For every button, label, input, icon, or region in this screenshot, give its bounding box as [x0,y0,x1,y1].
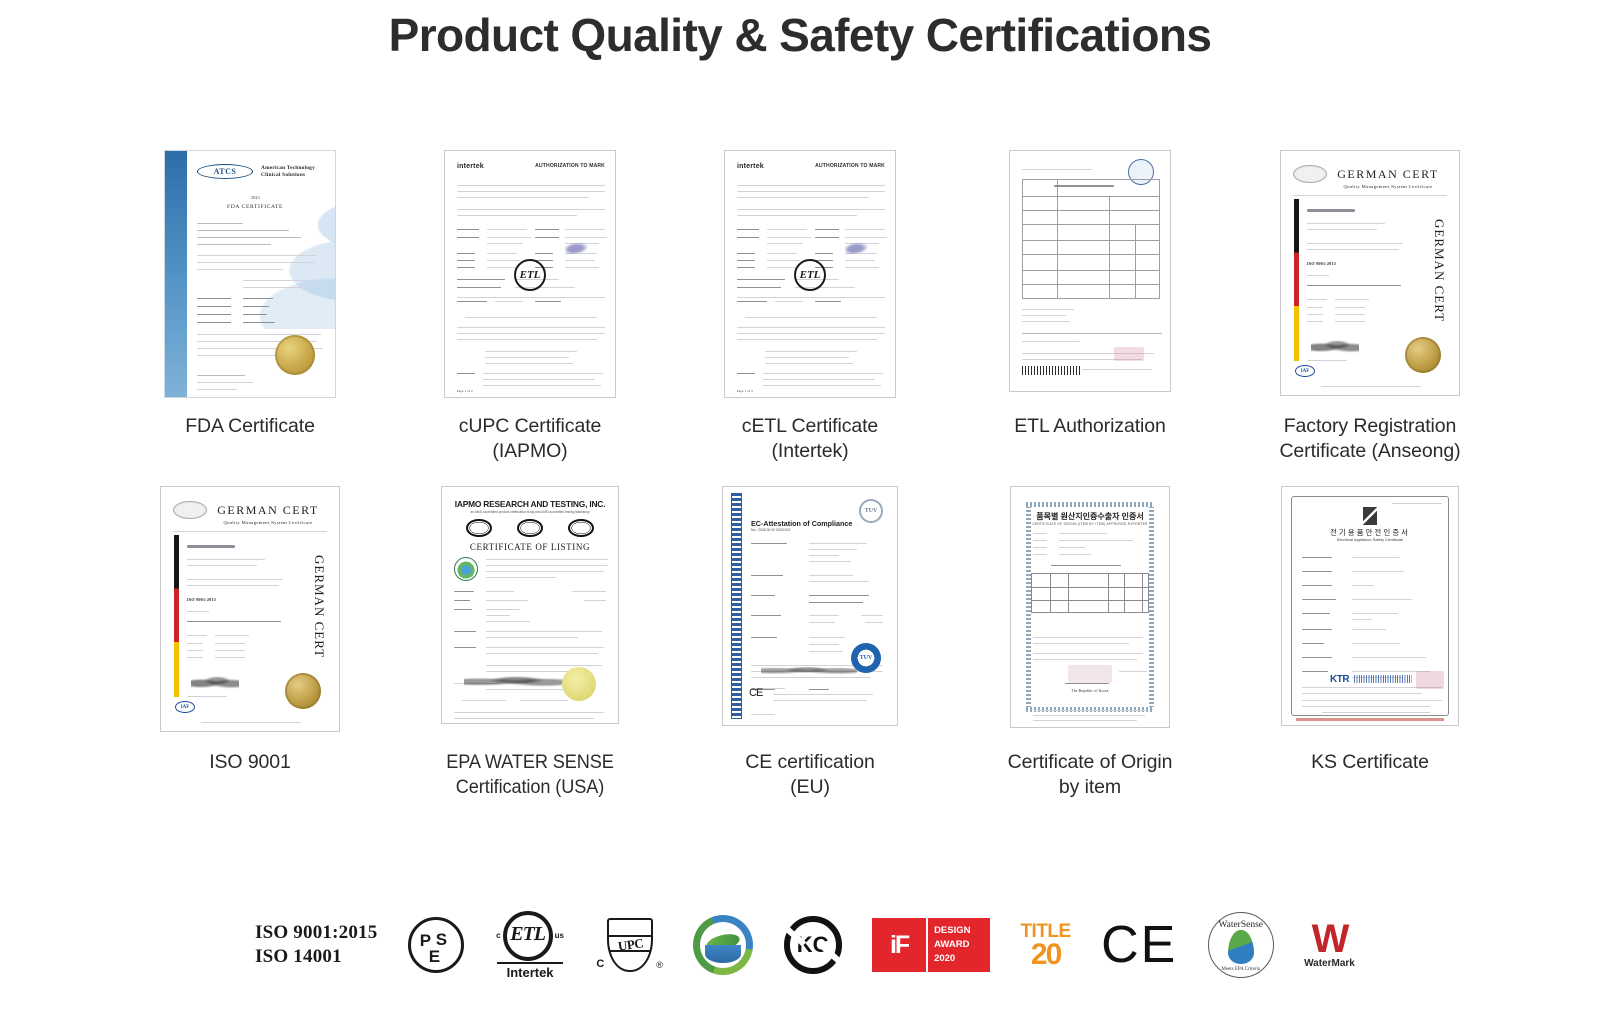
german-cert-document-factory: GERMAN CERT Quality Management System Ce… [1280,150,1460,396]
iapmo-header: IAPMO RESEARCH AND TESTING, INC. [452,499,608,509]
iaf-logo-iso: IAF [175,701,195,713]
iapmo-yellow-seal [562,667,596,701]
intertek-footer-cupc: Page 1 of 2 [457,389,473,393]
page-title: Product Quality & Safety Certifications [0,8,1600,62]
logo-watermark: W WaterMark [1304,922,1355,969]
etl-circle-icon: ETL [503,911,553,961]
german-cert-medal-icon-iso [173,501,207,519]
fda-watermark-swirl [187,199,335,329]
german-cert-signature-factory [1311,339,1359,353]
certificate-thumbnail-ks[interactable]: 전기용품안전인증서 Electrical Appliance Safety Ce… [1280,486,1460,736]
logo-title-20: TITLE 20 [1020,922,1070,969]
cupc-prefix-c: C [596,958,604,970]
german-cert-gold-seal-factory [1405,337,1441,373]
logo-ce-mark: CE [1101,920,1177,970]
fda-gold-seal [275,335,315,375]
iapmo-listing-document: IAPMO RESEARCH AND TESTING, INC. an ANSI… [441,486,619,724]
iapmo-signatures [464,673,574,689]
watersense-mark-icon: WaterSense Meets EPA Criteria [1208,912,1274,978]
ks-red-footer-line [1296,718,1444,721]
fda-doc-title: FDA CERTIFICATE [227,204,283,210]
german-cert-medal-icon [1293,165,1327,183]
title-20-line2: 20 [1031,941,1060,969]
tuv-logo-top-icon: TUV [859,499,883,523]
origin-certificate-document: 품목별 원산지인증수출자 인증서 CERTIFICATE OF ORIGIN (… [1010,486,1170,728]
certificate-card-factory-registration[interactable]: GERMAN CERT Quality Management System Ce… [1230,150,1510,464]
watermark-w-glyph: W [1312,922,1348,956]
ks-certificate-document: 전기용품안전인증서 Electrical Appliance Safety Ce… [1281,486,1459,726]
certificate-caption-cetl: cETL Certificate (Intertek) [680,414,940,464]
origin-doc-title-en: CERTIFICATE OF ORIGIN (ITEM BY ITEM) APP… [1011,522,1169,526]
fda-certificate-document: Certificate FDA Certificate FDA Certific… [164,150,336,398]
watersense-caption: Meets EPA Criteria [1209,967,1273,972]
certificate-caption-fda: FDA Certificate [120,414,380,439]
german-cert-brand-factory: GERMAN CERT [1327,167,1449,182]
intertek-doc-title-cupc: AUTHORIZATION TO MARK [535,163,605,169]
korea-eco-label-icon [693,915,753,975]
fda-year: 2023 [251,195,260,200]
german-flag-bar-factory [1294,199,1299,361]
iapmo-logo-icon-3 [568,519,594,537]
german-cert-subtitle-factory: Quality Management System Certificate [1327,184,1449,189]
intertek-brand-cetl: intertek [737,163,764,170]
ec-signatures [761,663,857,677]
german-cert-header-factory: GERMAN CERT Quality Management System Ce… [1327,167,1449,189]
logo-etl-intertek: c ETL us Intertek [494,911,566,980]
certificate-caption-iso-9001: ISO 9001 [120,750,380,775]
german-cert-side-text-factory: GERMAN CERT [1431,219,1447,322]
certificate-thumbnail-fda[interactable]: Certificate FDA Certificate FDA Certific… [160,150,340,400]
certificate-thumbnail-origin[interactable]: 품목별 원산지인증수출자 인증서 CERTIFICATE OF ORIGIN (… [1000,486,1180,736]
origin-stamp-icon [1068,665,1112,683]
ec-doc-title: EC-Attestation of Compliance [751,519,852,528]
certificate-thumbnail-factory-registration[interactable]: GERMAN CERT Quality Management System Ce… [1280,150,1460,400]
intertek-caption: Intertek [497,962,563,980]
if-logo-box: iF [872,918,926,972]
certificate-card-ks[interactable]: 전기용품안전인증서 Electrical Appliance Safety Ce… [1230,486,1510,800]
certificate-caption-etl-authorization: ETL Authorization [960,414,1220,439]
certificate-card-cupc[interactable]: intertek AUTHORIZATION TO MARK [390,150,670,464]
fda-header-line1: American Technology [261,165,315,171]
logo-pse: P S E [408,917,464,973]
certificate-caption-ce: CE certification (EU) [680,750,940,800]
fda-header-line2: Clinical Solutions [261,172,305,178]
ec-doc-number: No.: 2006 00 02 0220 002 [751,528,790,532]
logo-watersense: WaterSense Meets EPA Criteria [1208,912,1274,978]
certificate-thumbnail-iso-9001[interactable]: GERMAN CERT Quality Management System Ce… [160,486,340,736]
certifications-page: Product Quality & Safety Certifications … [0,0,1600,1033]
watersense-droplet-icon [1228,930,1254,964]
if-award-caption: DESIGN AWARD 2020 [928,918,990,972]
certificate-thumbnail-cetl[interactable]: intertek AUTHORIZATION TO MARK [720,150,900,400]
kc-mark-icon: KC [784,916,842,974]
certificate-thumbnail-ce[interactable]: TUV EC-Attestation of Compliance No.: 20… [720,486,900,736]
etl-prefix-c: c [494,931,502,940]
etl-label: ETL [510,923,545,946]
ks-stamp-icon [1416,671,1444,689]
logo-iso-standards: ISO 9001:2015 ISO 14001 [255,921,377,969]
pse-letter-e: E [429,947,440,967]
german-cert-header-iso: GERMAN CERT Quality Management System Ce… [207,503,329,525]
iapmo-doc-title: CERTIFICATE OF LISTING [442,542,618,552]
german-cert-side-text-iso: GERMAN CERT [311,555,327,658]
red-stamp-icon [1114,347,1144,361]
german-cert-subtitle-iso: Quality Management System Certificate [207,520,329,525]
german-flag-bar-iso [174,535,179,697]
ks-mark-icon [1363,507,1377,525]
iso-standards-label: ISO 9001:2015 ISO 14001 [255,921,377,969]
cupc-registered-mark: ® [656,960,663,970]
certificate-card-iso-9001[interactable]: GERMAN CERT Quality Management System Ce… [110,486,390,800]
iapmo-subheader: an ANSI accredited product certification… [452,510,608,514]
watermark-mark-icon: W WaterMark [1304,922,1355,969]
certificate-thumbnail-etl-authorization[interactable] [1000,150,1180,400]
origin-item-table [1031,573,1149,613]
upc-label: UPC [617,935,644,954]
iapmo-logo-row [466,519,594,537]
intertek-doc-title-cetl: AUTHORIZATION TO MARK [815,163,885,169]
german-cert-standard-factory: ISO 9001:2015 [1307,261,1336,266]
german-cert-signature-iso [191,675,239,689]
barcode-icon [1022,366,1082,375]
atcs-logo: ATCS [197,164,253,179]
certificate-card-origin[interactable]: 품목별 원산지인증수출자 인증서 CERTIFICATE OF ORIGIN (… [950,486,1230,800]
ec-side-strip [731,493,742,719]
iaf-logo-factory: IAF [1295,365,1315,377]
iapmo-logo-icon-2 [517,519,543,537]
ce-mark-icon-small: CE [749,687,762,699]
etl-intertek-mark-icon: c ETL us Intertek [494,911,566,980]
german-cert-gold-seal-iso [285,673,321,709]
tuv-blue-seal-icon: TUV [851,643,881,673]
logo-if-design-award: iF DESIGN AWARD 2020 [872,918,990,972]
cupc-mark-icon: C UPC ® [596,918,663,972]
intertek-footer-cetl: Page 1 of 3 [737,389,753,393]
logo-cupc: C UPC ® [596,918,663,972]
watersense-label: WaterSense [1209,920,1273,930]
certificate-card-epa-water-sense[interactable]: IAPMO RESEARCH AND TESTING, INC. an ANSI… [390,486,670,800]
watersense-badge-icon [454,557,478,581]
ce-mark-icon: CE [1101,920,1177,970]
logo-korea-eco-label [693,915,753,975]
certificate-card-fda[interactable]: Certificate FDA Certificate FDA Certific… [110,150,390,464]
logo-kc-mark: KC [784,916,842,974]
ktr-logo: KTR [1330,674,1349,685]
certificate-caption-epa-water-sense: EPA WATER SENSE Certification (USA) [409,750,651,800]
pse-mark-icon: P S E [408,917,464,973]
ec-attestation-document: TUV EC-Attestation of Compliance No.: 20… [722,486,898,726]
title-20-icon: TITLE 20 [1020,922,1070,969]
intertek-authorization-document-cupc: intertek AUTHORIZATION TO MARK [444,150,616,398]
etl-row: c ETL us [494,911,566,961]
ktr-logo-text [1354,675,1412,683]
upc-shield-icon: UPC [607,918,653,972]
if-design-award-icon: iF DESIGN AWARD 2020 [872,918,990,972]
certificate-caption-factory-registration: Factory Registration Certificate (Anseon… [1240,414,1500,464]
origin-issuer: The Republic of Korea [1011,689,1169,693]
korean-form-table [1022,179,1160,299]
certificate-caption-ks: KS Certificate [1240,750,1500,775]
etl-mark-cupc: ETL [514,259,546,291]
ks-doc-title-en: Electrical Appliance Safety Certificate [1282,537,1458,542]
etl-mark-cetl: ETL [794,259,826,291]
certificate-card-ce[interactable]: TUV EC-Attestation of Compliance No.: 20… [670,486,950,800]
korean-form-document [1009,150,1171,392]
watermark-caption: WaterMark [1304,958,1355,969]
intertek-authorization-document-cetl: intertek AUTHORIZATION TO MARK [724,150,896,398]
iapmo-logo-icon-1 [466,519,492,537]
certificate-grid: Certificate FDA Certificate FDA Certific… [110,150,1510,800]
german-cert-document-iso: GERMAN CERT Quality Management System Ce… [160,486,340,732]
certificate-thumbnail-epa-water-sense[interactable]: IAPMO RESEARCH AND TESTING, INC. an ANSI… [440,486,620,736]
origin-doc-title-kr: 품목별 원산지인증수출자 인증서 [1011,511,1169,522]
german-cert-brand-iso: GERMAN CERT [207,503,329,518]
fda-side-band: Certificate FDA Certificate FDA Certific… [165,151,187,397]
certificate-thumbnail-cupc[interactable]: intertek AUTHORIZATION TO MARK [440,150,620,400]
certification-logo-strip: ISO 9001:2015 ISO 14001 P S E c ETL us I… [255,895,1355,995]
german-cert-standard-iso: ISO 9001:2015 [187,597,216,602]
etl-suffix-us: us [553,931,566,940]
intertek-brand-cupc: intertek [457,163,484,170]
certificate-caption-cupc: cUPC Certificate (IAPMO) [400,414,660,464]
certificate-card-cetl[interactable]: intertek AUTHORIZATION TO MARK [670,150,950,464]
certificate-caption-origin: Certificate of Origin by item [960,750,1220,800]
certificate-card-etl-authorization[interactable]: ETL Authorization [950,150,1230,464]
